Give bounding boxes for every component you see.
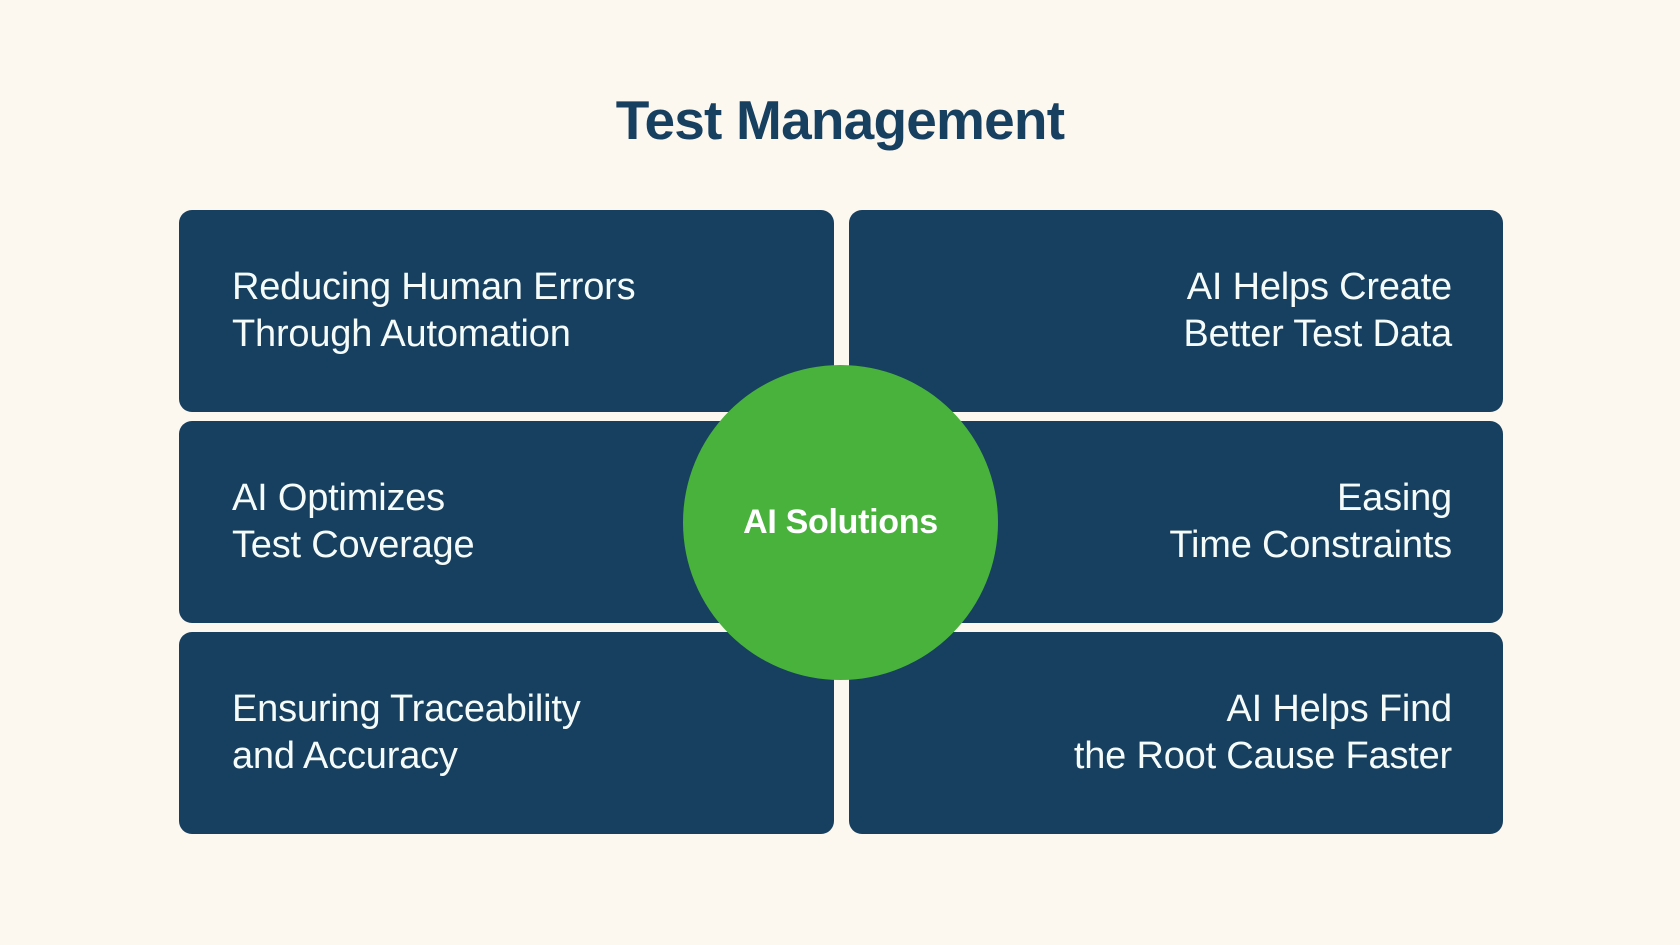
- card-reducing-human-errors[interactable]: Reducing Human Errors Through Automation: [179, 210, 834, 412]
- card-ai-helps-find-the-root-cause-faster[interactable]: AI Helps Find the Root Cause Faster: [849, 632, 1504, 834]
- center-hub-label: AI Solutions: [743, 503, 938, 542]
- card-ensuring-traceability-and-accuracy[interactable]: Ensuring Traceability and Accuracy: [179, 632, 834, 834]
- card-label: AI Optimizes Test Coverage: [232, 475, 474, 569]
- infographic-canvas: Test Management Reducing Human Errors Th…: [0, 0, 1680, 945]
- card-label: Easing Time Constraints: [1169, 475, 1452, 569]
- card-label: AI Helps Find the Root Cause Faster: [1074, 686, 1452, 780]
- card-ai-helps-create-better-test-data[interactable]: AI Helps Create Better Test Data: [849, 210, 1504, 412]
- center-hub-circle[interactable]: AI Solutions: [683, 365, 998, 680]
- card-label: AI Helps Create Better Test Data: [1183, 264, 1452, 358]
- page-title: Test Management: [0, 92, 1680, 150]
- card-label: Reducing Human Errors Through Automation: [232, 264, 635, 358]
- card-label: Ensuring Traceability and Accuracy: [232, 686, 581, 780]
